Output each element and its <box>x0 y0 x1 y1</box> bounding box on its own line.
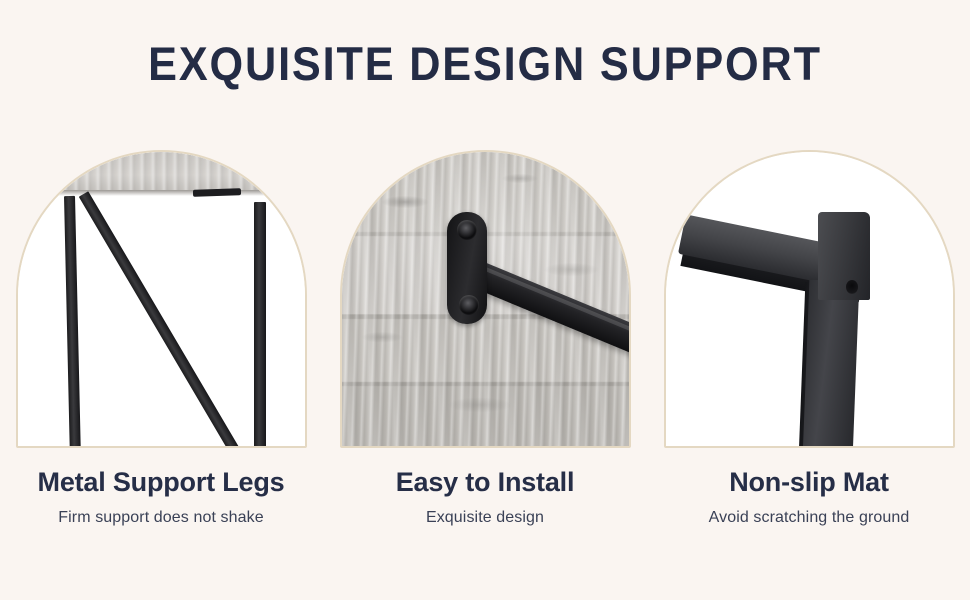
product-photo-metal-support-legs <box>18 152 305 446</box>
screw-hole <box>846 280 858 294</box>
panel-caption: Metal Support Legs Firm support does not… <box>16 448 307 527</box>
caption-title: Non-slip Mat <box>664 468 955 498</box>
metal-diagonal-brace <box>78 191 261 446</box>
arch-photo-frame <box>16 150 307 448</box>
wood-plank-sliver <box>18 152 305 194</box>
arch-photo-frame <box>664 150 955 448</box>
caption-subtitle: Exquisite design <box>340 508 631 527</box>
product-photo-non-slip-mat <box>666 152 953 446</box>
metal-leg-right <box>254 202 266 446</box>
arch-photo-frame <box>340 150 631 448</box>
caption-title: Metal Support Legs <box>16 468 307 498</box>
metal-leg-left <box>64 196 83 446</box>
feature-panel-non-slip-mat: Non-slip Mat Avoid scratching the ground <box>664 150 955 527</box>
feature-panel-easy-to-install: Easy to Install Exquisite design <box>340 150 631 527</box>
panel-caption: Non-slip Mat Avoid scratching the ground <box>664 448 955 527</box>
product-feature-infographic: EXQUISITE DESIGN SUPPORT <box>0 0 970 600</box>
feature-panel-metal-support-legs: Metal Support Legs Firm support does not… <box>16 150 307 527</box>
leg-corner-joint <box>818 212 870 300</box>
leg-vertical-post <box>802 280 859 446</box>
photo-scene <box>666 152 953 446</box>
feature-panel-row: Metal Support Legs Firm support does not… <box>0 150 970 550</box>
caption-subtitle: Avoid scratching the ground <box>664 508 955 527</box>
wood-edge-shadow <box>18 190 305 196</box>
screw-hole-bottom <box>459 295 479 315</box>
panel-caption: Easy to Install Exquisite design <box>340 448 631 527</box>
page-title: EXQUISITE DESIGN SUPPORT <box>39 40 931 87</box>
caption-title: Easy to Install <box>340 468 631 498</box>
screw-hole-top <box>457 220 477 240</box>
product-photo-easy-to-install <box>342 152 629 446</box>
photo-scene <box>18 152 305 446</box>
caption-subtitle: Firm support does not shake <box>16 508 307 527</box>
